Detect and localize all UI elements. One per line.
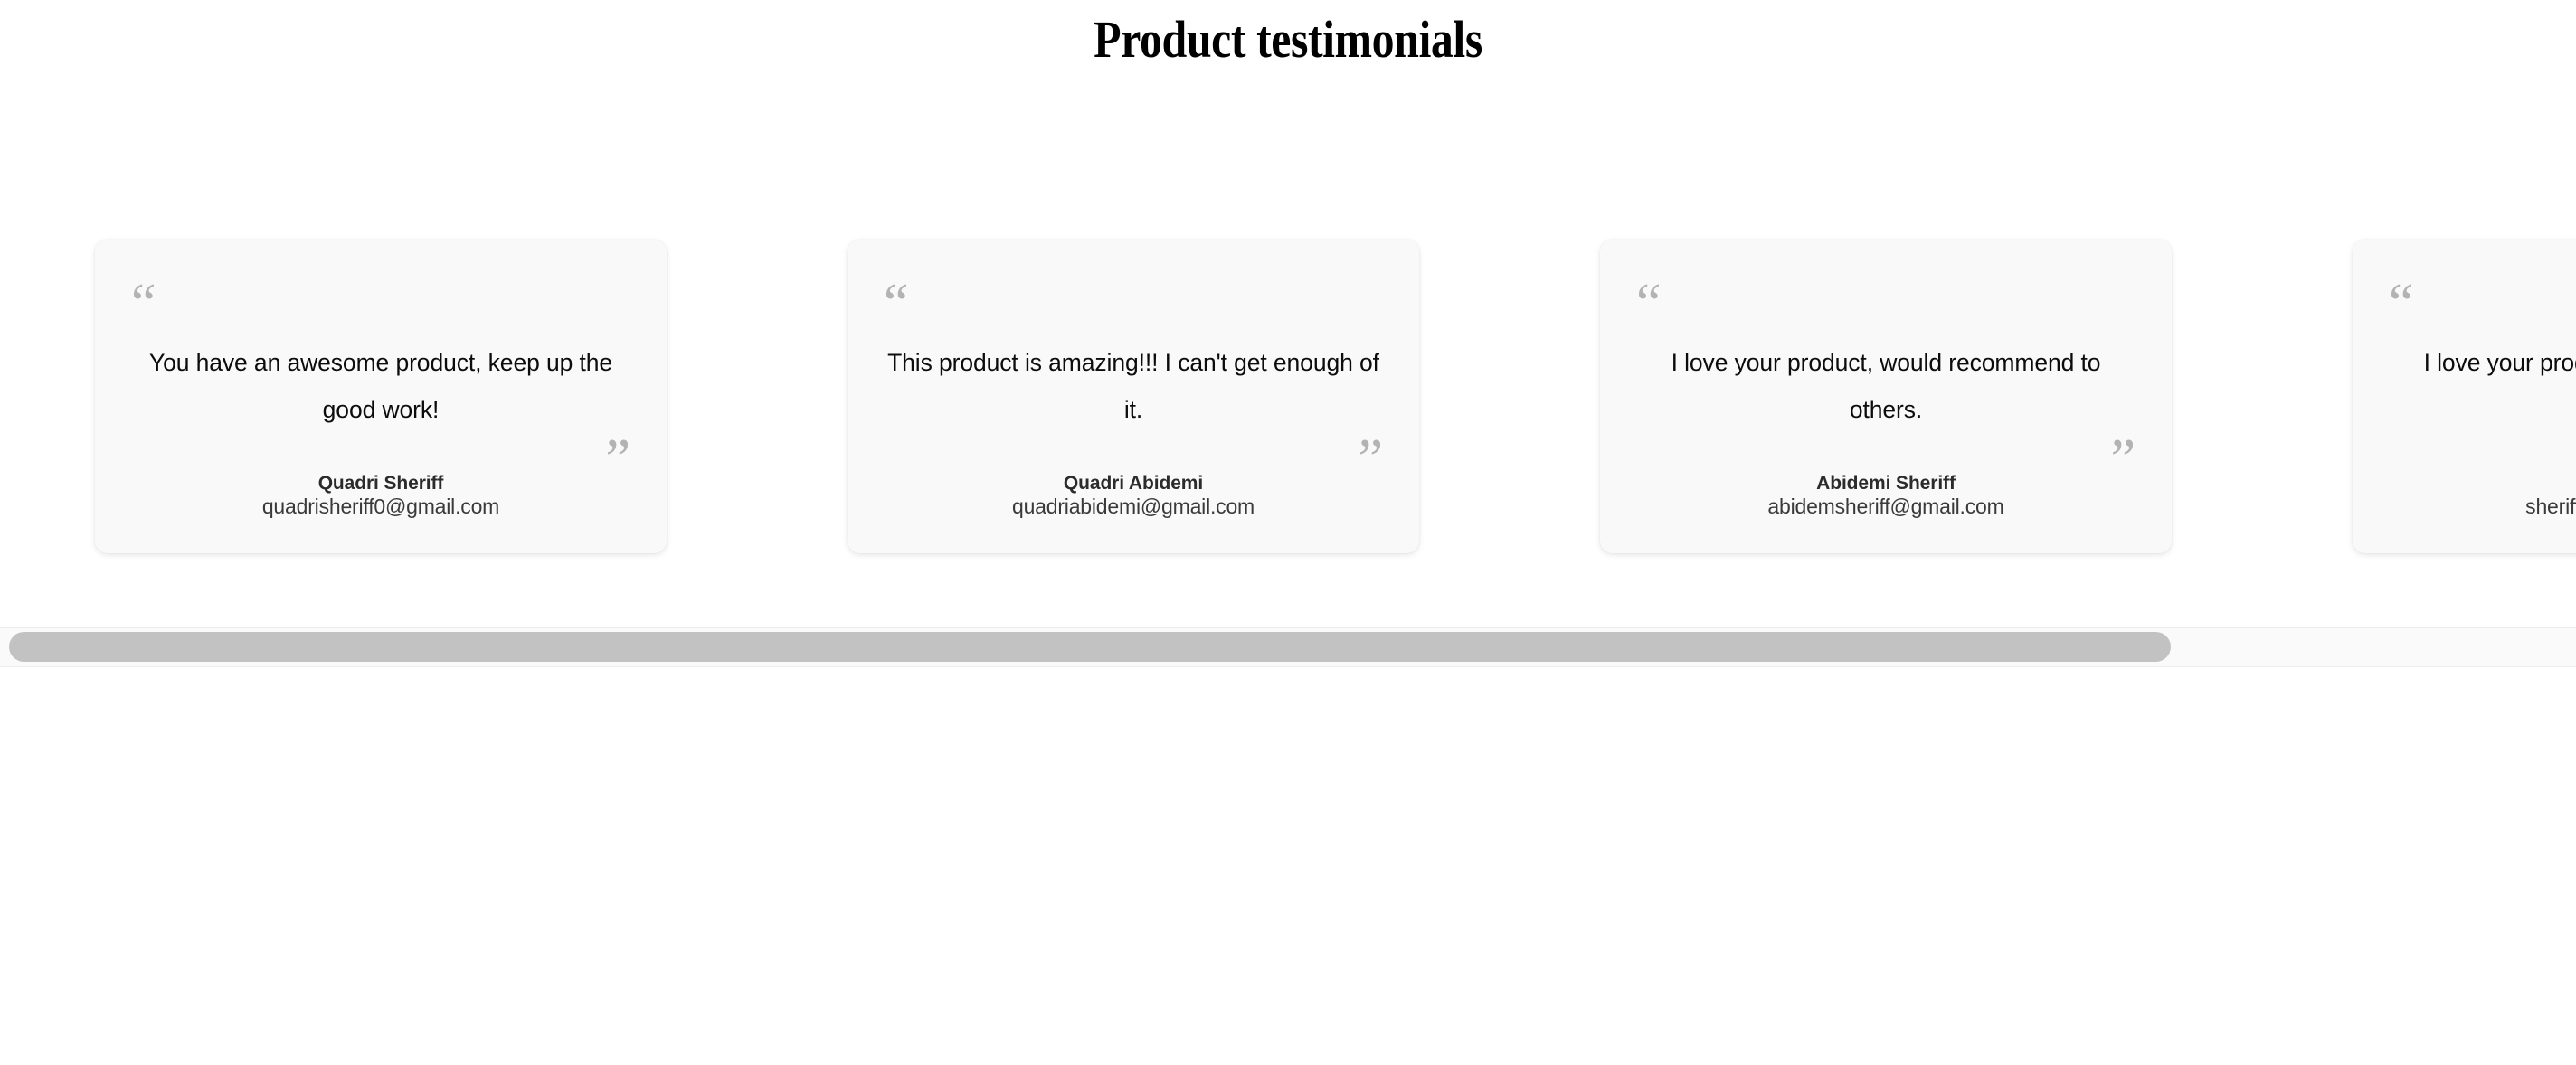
close-quote-icon: ”	[131, 444, 630, 471]
close-quote-icon: ”	[2389, 444, 2576, 471]
testimonial-author: Quadri Sheriff quadrisheriff0@gmail.com	[131, 473, 630, 519]
author-email: quadriabidemi@gmail.com	[884, 495, 1383, 519]
close-quote-icon: ”	[1636, 444, 2136, 471]
close-quote-icon: ”	[884, 444, 1383, 471]
testimonial-card[interactable]: “ You have an awesome product, keep up t…	[95, 240, 667, 553]
author-email: abidemsheriff@gmail.com	[1636, 495, 2136, 519]
horizontal-scrollbar[interactable]	[0, 627, 2576, 667]
author-email: quadrisheriff0@gmail.com	[131, 495, 630, 519]
author-name: Abidemi Sheriff	[1636, 473, 2136, 495]
testimonial-card[interactable]: “ This product is amazing!!! I can't get…	[848, 240, 1419, 553]
testimonial-quote: This product is amazing!!! I can't get e…	[884, 339, 1383, 433]
carousel-track[interactable]: “ You have an awesome product, keep up t…	[0, 217, 2576, 553]
author-name: Quadri Abidemi	[884, 473, 1383, 495]
open-quote-icon: “	[2389, 288, 2576, 319]
testimonial-quote: I love your product, would recommend to …	[2389, 339, 2576, 433]
author-email: sheriffquadri@gmail.com	[2389, 495, 2576, 519]
author-name: Quadri Sheriff	[131, 473, 630, 495]
author-name: Sheriff Quadri	[2389, 473, 2576, 495]
testimonials-page: Product testimonials “ You have an aweso…	[0, 0, 2576, 1065]
testimonial-author: Sheriff Quadri sheriffquadri@gmail.com	[2389, 473, 2576, 519]
scrollbar-thumb[interactable]	[9, 632, 2171, 662]
page-title: Product testimonials	[180, 0, 2395, 68]
testimonial-card[interactable]: “ I love your product, would recommend t…	[1600, 240, 2172, 553]
open-quote-icon: “	[1636, 288, 2136, 319]
testimonials-carousel[interactable]: “ You have an awesome product, keep up t…	[0, 217, 2576, 669]
testimonial-quote: I love your product, would recommend to …	[1636, 339, 2136, 433]
open-quote-icon: “	[131, 288, 630, 319]
testimonial-card[interactable]: “ I love your product, would recommend t…	[2353, 240, 2576, 553]
testimonial-quote: You have an awesome product, keep up the…	[131, 339, 630, 433]
testimonial-author: Abidemi Sheriff abidemsheriff@gmail.com	[1636, 473, 2136, 519]
open-quote-icon: “	[884, 288, 1383, 319]
testimonial-author: Quadri Abidemi quadriabidemi@gmail.com	[884, 473, 1383, 519]
